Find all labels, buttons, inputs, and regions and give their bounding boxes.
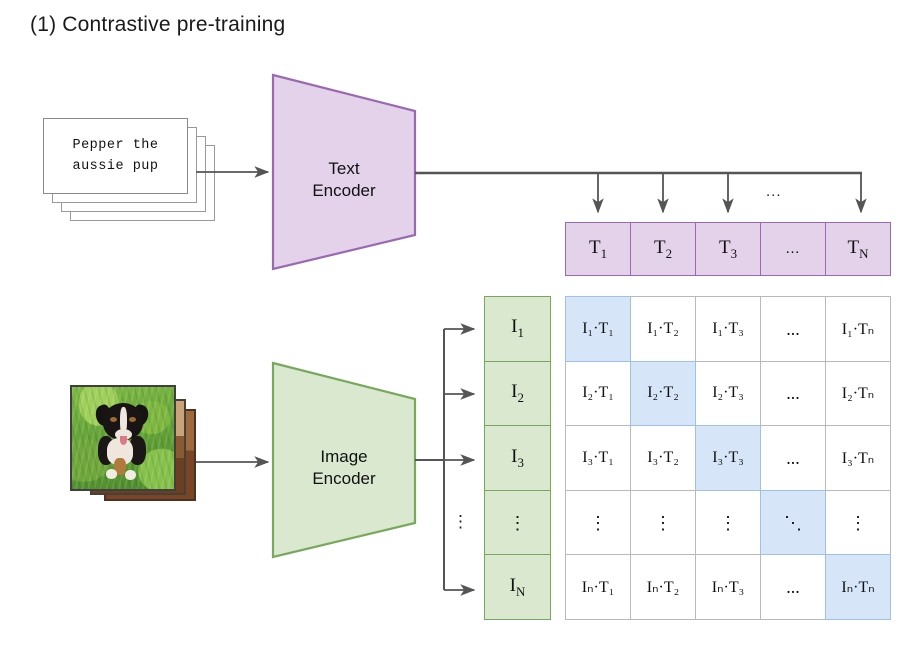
matrix-cell-...-...: ⋱ — [760, 490, 826, 556]
matrix-row: Iₙ·T₁Iₙ·T₂Iₙ·T₃...Iₙ·Tₙ — [565, 555, 891, 620]
matrix-cell-3-3: I₃·T₃ — [695, 425, 761, 491]
matrix-cell-3-N: I₃·Tₙ — [825, 425, 891, 491]
matrix-cell-N-2: Iₙ·T₂ — [630, 554, 696, 620]
text-caption: Pepper the aussie pup — [43, 118, 188, 194]
image-embedding-cell-3: I3 — [484, 425, 551, 491]
puppy-paw-left — [106, 469, 117, 479]
image-embedding-column: I1I2I3⋮IN — [484, 296, 551, 620]
matrix-row: I₃·T₁I₃·T₂I₃·T₃...I₃·Tₙ — [565, 426, 891, 491]
matrix-cell-2-2: I₂·T₂ — [630, 361, 696, 427]
matrix-cell-1-2: I₁·T₂ — [630, 296, 696, 362]
matrix-cell-2-N: I₂·Tₙ — [825, 361, 891, 427]
image-embedding-cell-2: I2 — [484, 361, 551, 427]
image-encoder-shape — [273, 363, 415, 557]
matrix-cell-1-1: I₁·T₁ — [565, 296, 631, 362]
matrix-cell-3-...: ... — [760, 425, 826, 491]
text-embedding-cell-1: T1 — [565, 222, 631, 276]
matrix-cell-2-1: I₂·T₁ — [565, 361, 631, 427]
photo-layer-1-puppy — [70, 385, 176, 491]
text-embedding-cell-2: T2 — [630, 222, 696, 276]
puppy-paw-right — [125, 470, 136, 480]
matrix-row: I₁·T₁I₁·T₂I₁·T₃...I₁·Tₙ — [565, 296, 891, 362]
text-caption-line-1: Pepper the — [72, 135, 158, 156]
image-embedding-cell-ellipsis: ⋮ — [484, 490, 551, 556]
matrix-cell-2-...: ... — [760, 361, 826, 427]
page-title: (1) Contrastive pre-training — [30, 13, 285, 37]
text-embedding-cell-ellipsis: ... — [760, 222, 826, 276]
matrix-cell-3-2: I₃·T₂ — [630, 425, 696, 491]
text-embedding-cell-3: T3 — [695, 222, 761, 276]
matrix-row: I₂·T₁I₂·T₂I₂·T₃...I₂·Tₙ — [565, 362, 891, 427]
matrix-cell-N-3: Iₙ·T₃ — [695, 554, 761, 620]
matrix-cell-N-1: Iₙ·T₁ — [565, 554, 631, 620]
text-bus-ellipsis: ... — [766, 183, 782, 200]
matrix-cell-...-3: ⋮ — [695, 490, 761, 556]
matrix-cell-2-3: I₂·T₃ — [695, 361, 761, 427]
matrix-cell-3-1: I₃·T₁ — [565, 425, 631, 491]
similarity-matrix: I₁·T₁I₁·T₂I₁·T₃...I₁·TₙI₂·T₁I₂·T₂I₂·T₃..… — [565, 296, 891, 620]
matrix-cell-N-...: ... — [760, 554, 826, 620]
matrix-cell-1-N: I₁·Tₙ — [825, 296, 891, 362]
image-embedding-cell-1: I1 — [484, 296, 551, 362]
text-embedding-cell-N: TN — [825, 222, 891, 276]
text-caption-line-2: aussie pup — [72, 156, 158, 177]
matrix-cell-...-2: ⋮ — [630, 490, 696, 556]
text-embedding-row: T1T2T3...TN — [565, 222, 891, 276]
puppy-brow-right — [129, 417, 136, 422]
image-input-photo-stack — [70, 385, 202, 505]
matrix-cell-1-...: ... — [760, 296, 826, 362]
matrix-cell-...-1: ⋮ — [565, 490, 631, 556]
matrix-cell-N-N: Iₙ·Tₙ — [825, 554, 891, 620]
matrix-cell-1-3: I₁·T₃ — [695, 296, 761, 362]
text-encoder-shape — [273, 75, 415, 269]
image-bus-ellipsis: ⋮ — [452, 512, 469, 532]
text-encoder-block[interactable]: Text Encoder — [271, 72, 417, 272]
matrix-cell-...-N: ⋮ — [825, 490, 891, 556]
puppy-brow-left — [110, 417, 117, 422]
text-input-card-stack: Pepper the aussie pup — [43, 118, 228, 223]
image-embedding-cell-N: IN — [484, 554, 551, 620]
image-encoder-block[interactable]: Image Encoder — [271, 360, 417, 560]
matrix-row: ⋮⋮⋮⋱⋮ — [565, 491, 891, 556]
diagram-canvas: (1) Contrastive pre-training Pepper the … — [0, 0, 906, 654]
